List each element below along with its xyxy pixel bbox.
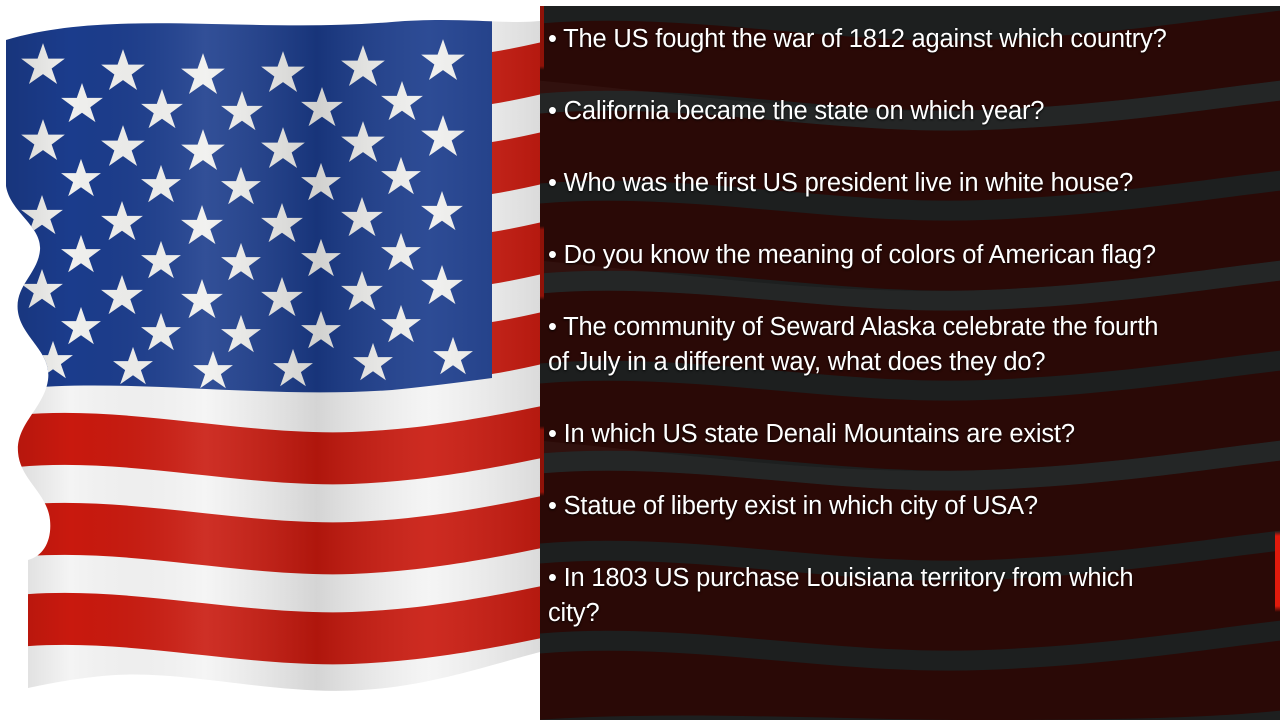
bullet-marker: • [548,97,557,125]
bullet-marker: • [548,564,557,592]
questions-panel: • The US fought the war of 1812 against … [540,6,1280,720]
bullet-marker: • [548,492,557,520]
question-item: • In 1803 US purchase Louisiana territor… [548,561,1270,631]
question-item: • The community of Seward Alaska celebra… [548,310,1270,380]
question-item: • In which US state Denali Mountains are… [548,417,1270,452]
bullet-marker: • [548,25,557,53]
question-text: In which US state Denali Mountains are e… [564,420,1075,448]
question-text: The US fought the war of 1812 against wh… [563,25,1166,53]
bullet-marker: • [548,420,557,448]
questions-list: • The US fought the war of 1812 against … [540,6,1280,720]
question-text: The community of Seward Alaska celebrate… [548,313,1158,376]
bullet-marker: • [548,169,557,197]
question-item: • The US fought the war of 1812 against … [548,22,1270,57]
question-text: In 1803 US purchase Louisiana territory … [548,564,1133,627]
bullet-marker: • [548,313,557,341]
question-text: Do you know the meaning of colors of Ame… [564,241,1156,269]
waving-american-flag [0,0,540,720]
question-item: • Statue of liberty exist in which city … [548,489,1270,524]
question-text: Who was the first US president live in w… [564,169,1134,197]
slide-canvas: • The US fought the war of 1812 against … [0,0,1280,720]
flag-image-panel [0,0,540,720]
bullet-marker: • [548,241,557,269]
question-text: California became the state on which yea… [564,97,1045,125]
question-text: Statue of liberty exist in which city of… [564,492,1038,520]
flag-shading [0,0,540,720]
question-item: • Do you know the meaning of colors of A… [548,238,1270,273]
question-item: • California became the state on which y… [548,94,1270,129]
question-item: • Who was the first US president live in… [548,166,1270,201]
